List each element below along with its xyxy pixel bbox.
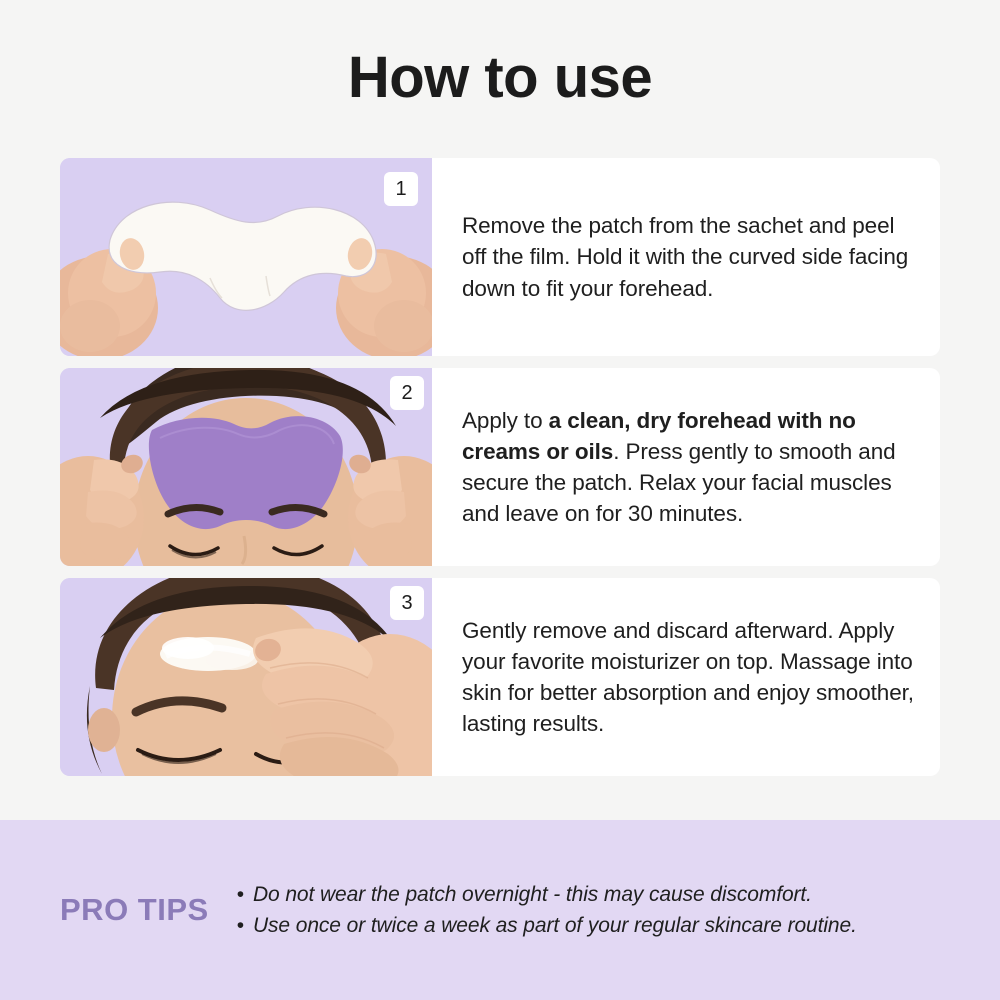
pro-tips-list: Do not wear the patch overnight - this m… — [237, 879, 1000, 941]
step-description: Gently remove and discard afterward. App… — [462, 615, 918, 739]
step-row: 3 Gently remove and discard afterward. A… — [60, 578, 940, 776]
pro-tips-band: PRO TIPS Do not wear the patch overnight… — [0, 820, 1000, 1000]
step-description: Remove the patch from the sachet and pee… — [462, 210, 918, 303]
step-description: Apply to a clean, dry forehead with no c… — [462, 405, 918, 529]
step-number-badge: 1 — [384, 172, 418, 206]
step-photo-2: 2 — [60, 368, 432, 566]
step-photo-1: 1 — [60, 158, 432, 356]
pro-tip-item: Do not wear the patch overnight - this m… — [237, 879, 1000, 910]
step-photo-3: 3 — [60, 578, 432, 776]
step-text-card-1: Remove the patch from the sachet and pee… — [432, 158, 940, 356]
applying-patch-to-forehead-image — [60, 368, 432, 566]
step-text-card-2: Apply to a clean, dry forehead with no c… — [432, 368, 940, 566]
step-number-badge: 3 — [390, 586, 424, 620]
step-text-before: Gently remove and discard afterward. App… — [462, 618, 914, 736]
pro-tips-label: PRO TIPS — [60, 892, 209, 928]
steps-list: 1 Remove the patch from the sachet and p… — [60, 158, 940, 788]
hands-holding-patch-image — [60, 158, 432, 356]
step-row: 2 Apply to a clean, dry forehead with no… — [60, 368, 940, 566]
step-text-before: Apply to — [462, 408, 549, 433]
step-text-card-3: Gently remove and discard afterward. App… — [432, 578, 940, 776]
page-title: How to use — [0, 0, 1000, 109]
step-row: 1 Remove the patch from the sachet and p… — [60, 158, 940, 356]
pro-tip-item: Use once or twice a week as part of your… — [237, 910, 1000, 941]
step-number-badge: 2 — [390, 376, 424, 410]
applying-moisturizer-image — [60, 578, 432, 776]
step-text-before: Remove the patch from the sachet and pee… — [462, 213, 908, 300]
